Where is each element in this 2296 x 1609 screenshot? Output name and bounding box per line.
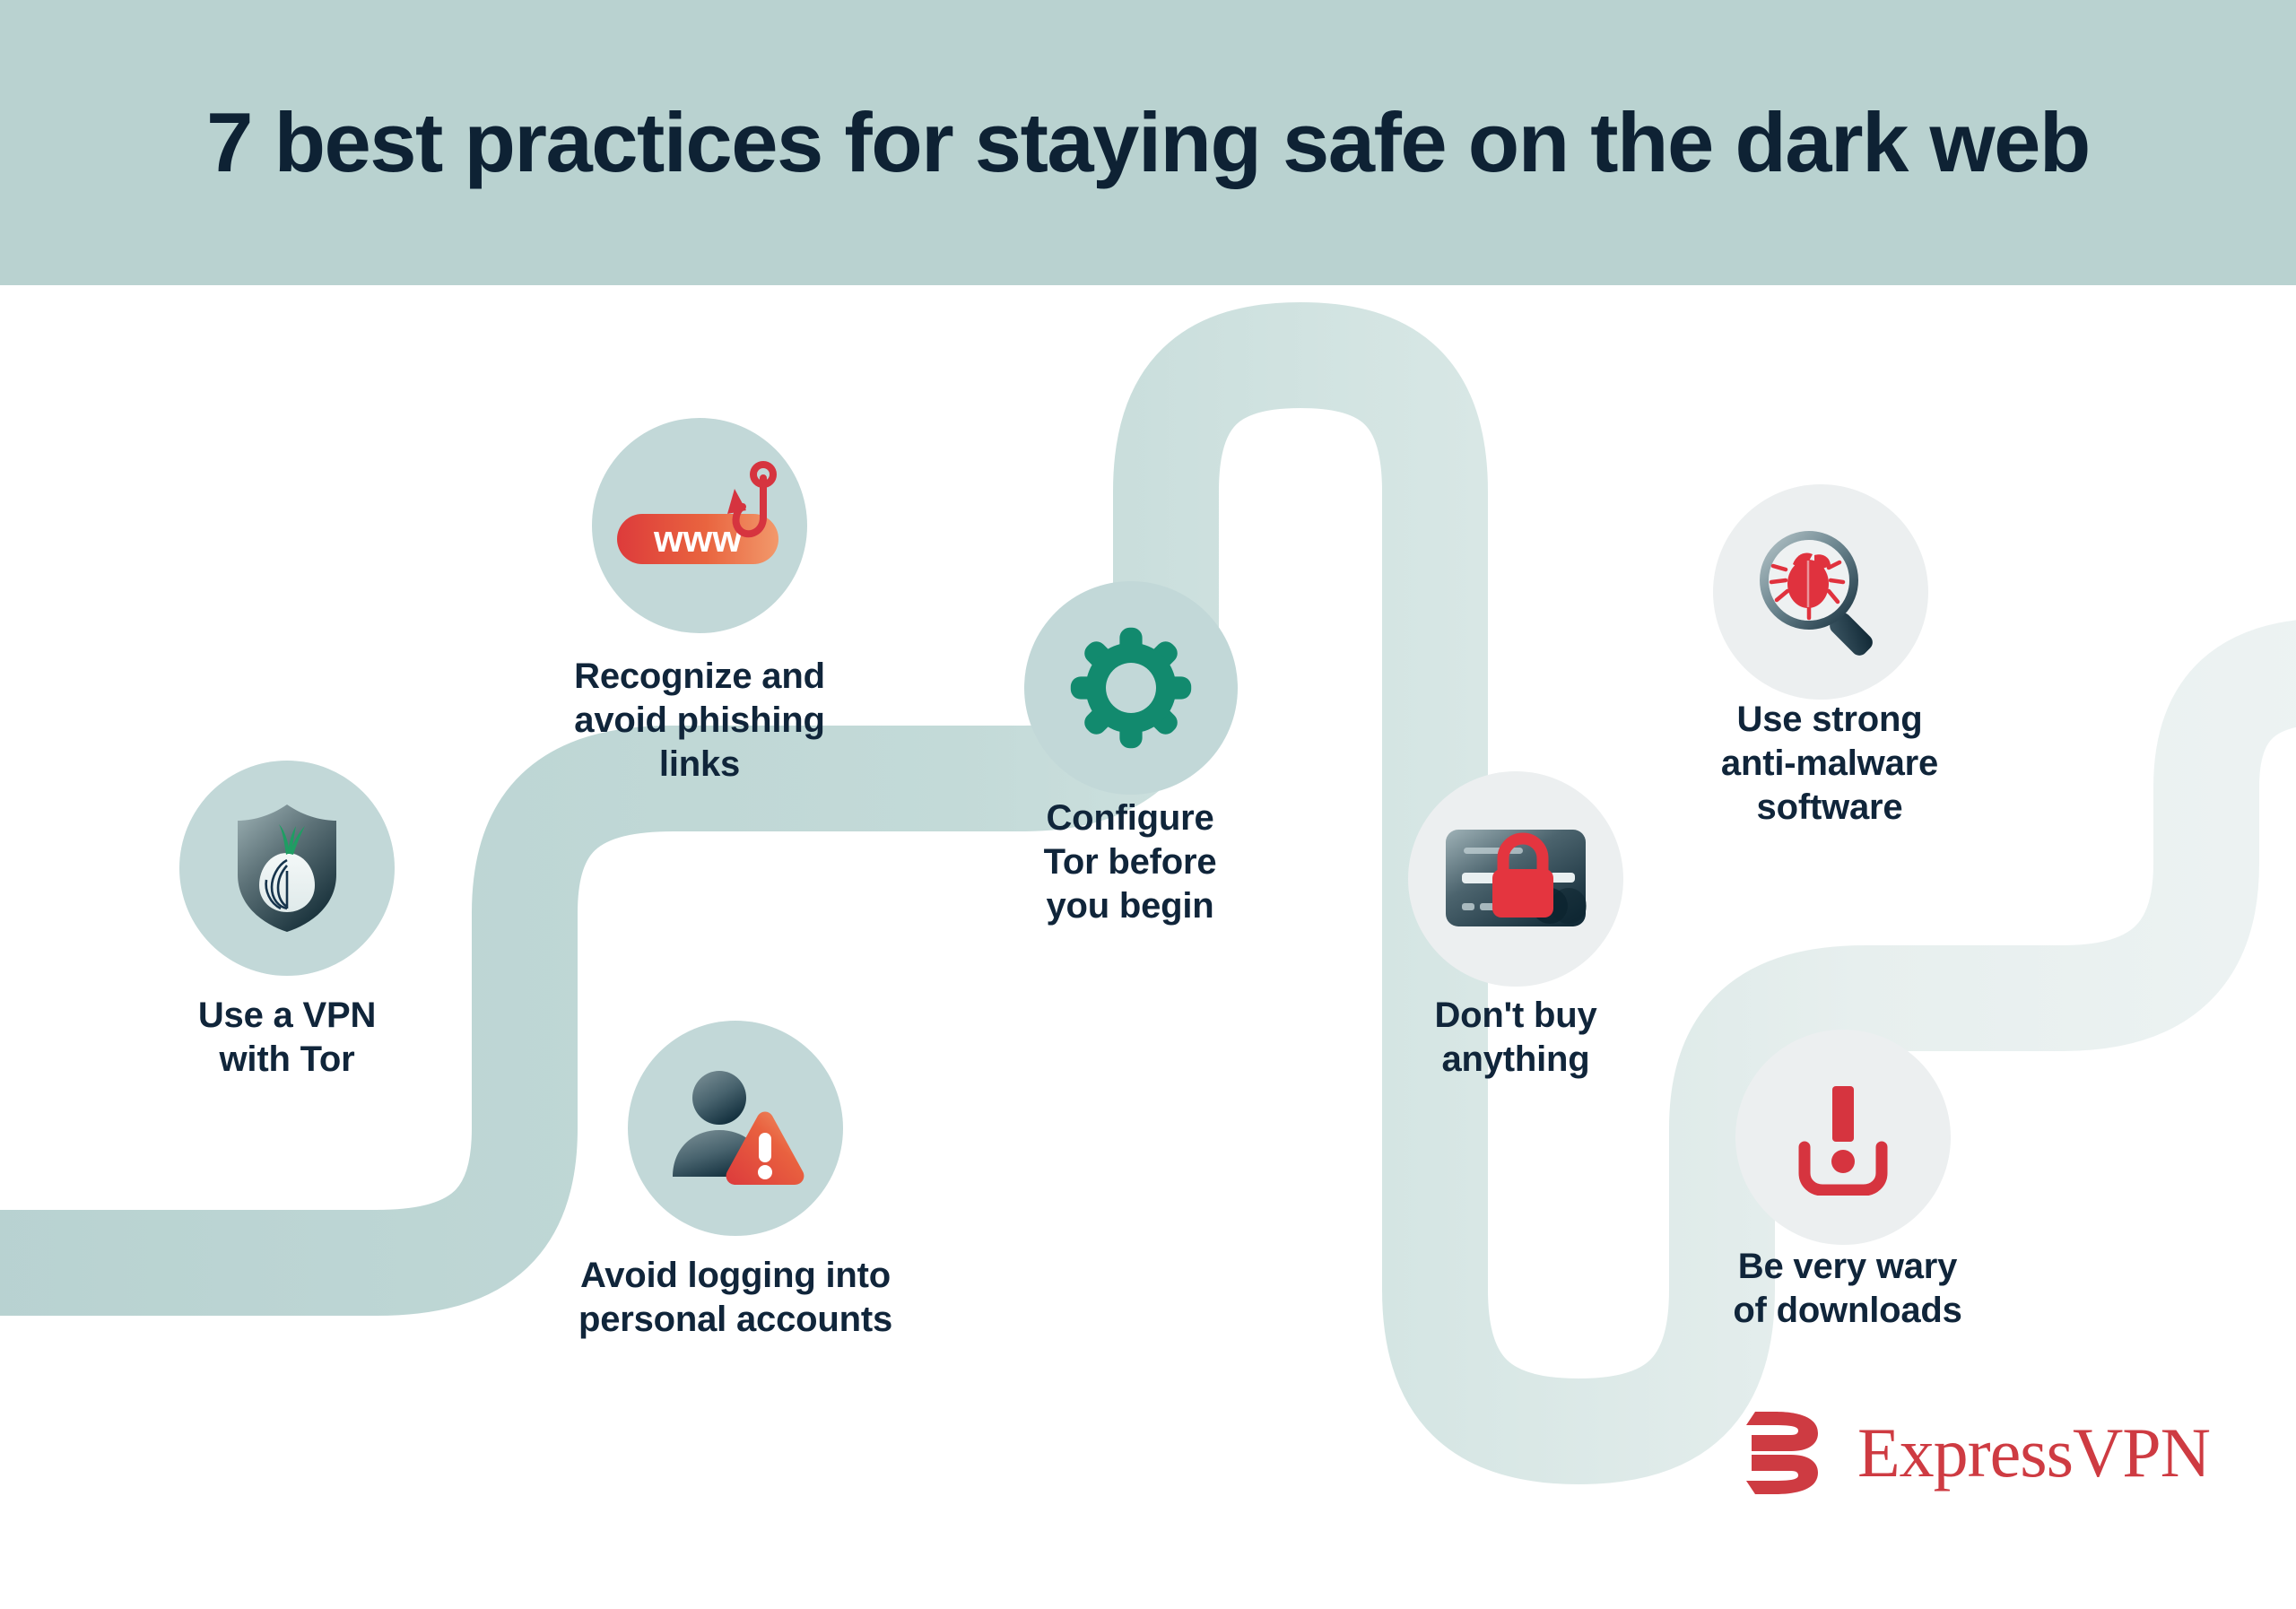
step-2-icon-bubble: www [592,418,807,633]
step-7-icon-bubble [1735,1030,1951,1245]
user-warning-icon [664,1065,807,1191]
tor-shield-onion-icon [229,801,345,935]
step-7-caption: Be very wary of downloads [1668,1245,2027,1333]
page-title: 7 best practices for staying safe on the… [206,99,2090,187]
credit-card-lock-icon [1444,826,1587,932]
step-1-icon-bubble [179,761,395,976]
expressvpn-wordmark: ExpressVPN [1857,1418,2210,1488]
expressvpn-mark-icon [1735,1410,1841,1496]
phishing-www-label: www [653,517,742,560]
step-4-icon-bubble [1024,581,1238,795]
step-5-caption: Don't buy anything [1345,994,1686,1082]
step-4-caption: Configure Tor before you begin [951,796,1309,927]
magnifier-bug-icon [1753,525,1888,659]
infographic-canvas: 7 best practices for staying safe on the… [0,0,2296,1609]
expressvpn-logo: ExpressVPN [1735,1410,2210,1496]
step-3-icon-bubble [628,1021,843,1236]
step-2-caption: Recognize and avoid phishing links [520,655,879,786]
step-6-caption: Use strong anti-malware software [1650,698,2009,829]
step-3-caption: Avoid logging into personal accounts [538,1254,933,1342]
gear-icon [1068,625,1194,751]
step-1-caption: Use a VPN with Tor [108,994,466,1082]
step-6-icon-bubble [1713,484,1928,700]
download-warning-icon [1785,1079,1901,1196]
header-band: 7 best practices for staying safe on the… [0,0,2296,285]
step-5-icon-bubble [1408,771,1623,987]
phishing-www-hook-icon: www [610,458,789,593]
